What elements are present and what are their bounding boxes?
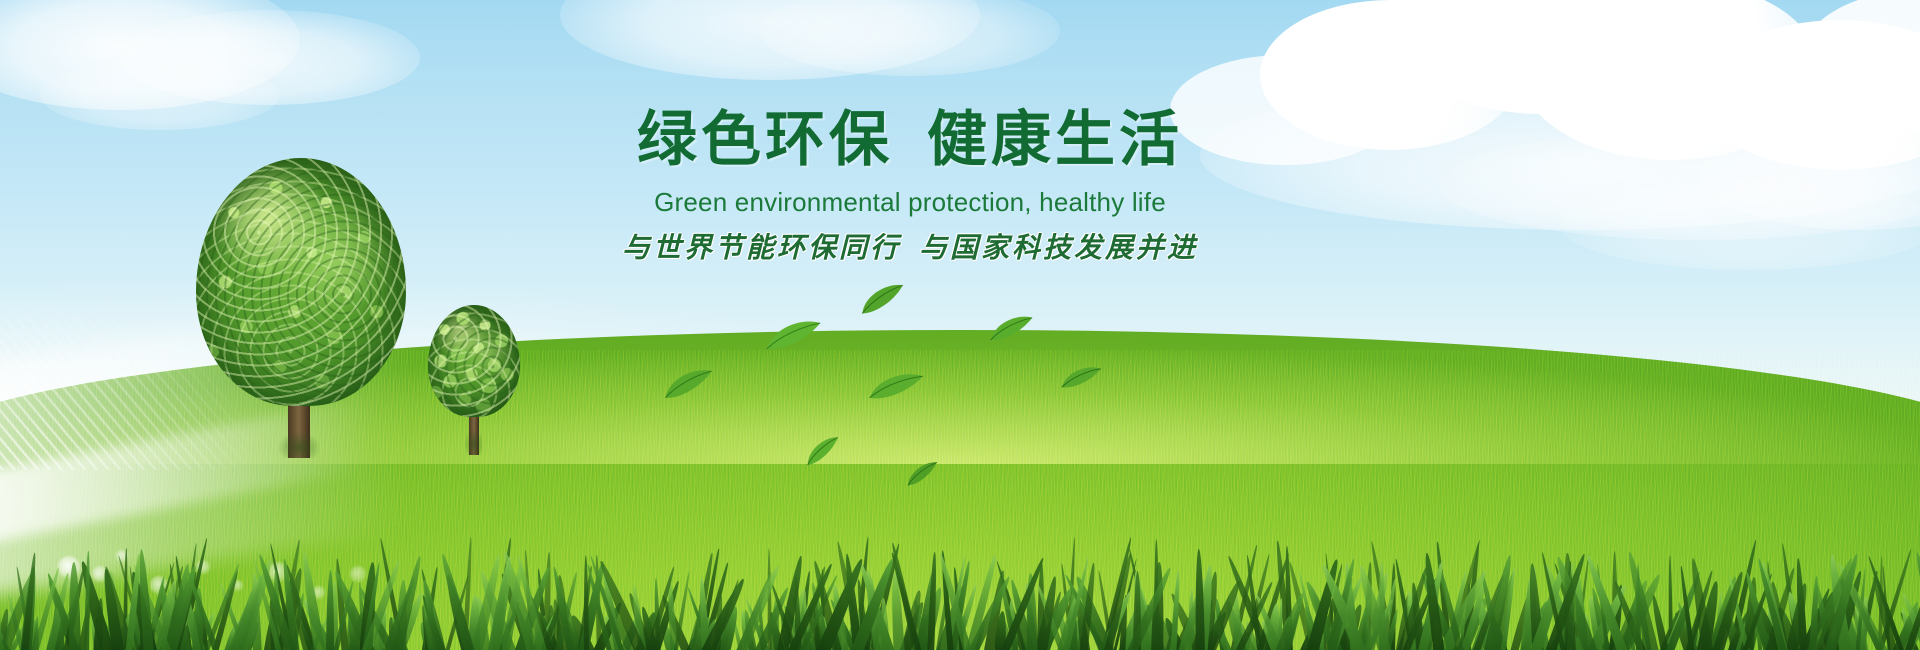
small-tree — [428, 305, 520, 455]
eco-banner: 绿色环保健康生活 Green environmental protection,… — [0, 0, 1920, 650]
small-tree-canopy — [428, 305, 520, 417]
subtitle-cn-part1: 与世界节能环保同行 — [622, 233, 901, 264]
subtitle-chinese: 与世界节能环保同行与国家科技发展并进 — [620, 226, 1200, 266]
headline-part2: 健康生活 — [927, 106, 1183, 173]
big-tree-canopy — [196, 158, 406, 406]
subtitle-cn-part2: 与国家科技发展并进 — [919, 233, 1198, 264]
headline-part1: 绿色环保 — [637, 106, 893, 173]
subtitle-english: Green environmental protection, healthy … — [620, 187, 1200, 218]
foreground-grass — [0, 532, 1920, 650]
big-tree — [196, 158, 406, 458]
banner-text-block: 绿色环保健康生活 Green environmental protection,… — [620, 108, 1200, 266]
grass-blade — [326, 570, 334, 650]
page-title: 绿色环保健康生活 — [620, 108, 1200, 171]
